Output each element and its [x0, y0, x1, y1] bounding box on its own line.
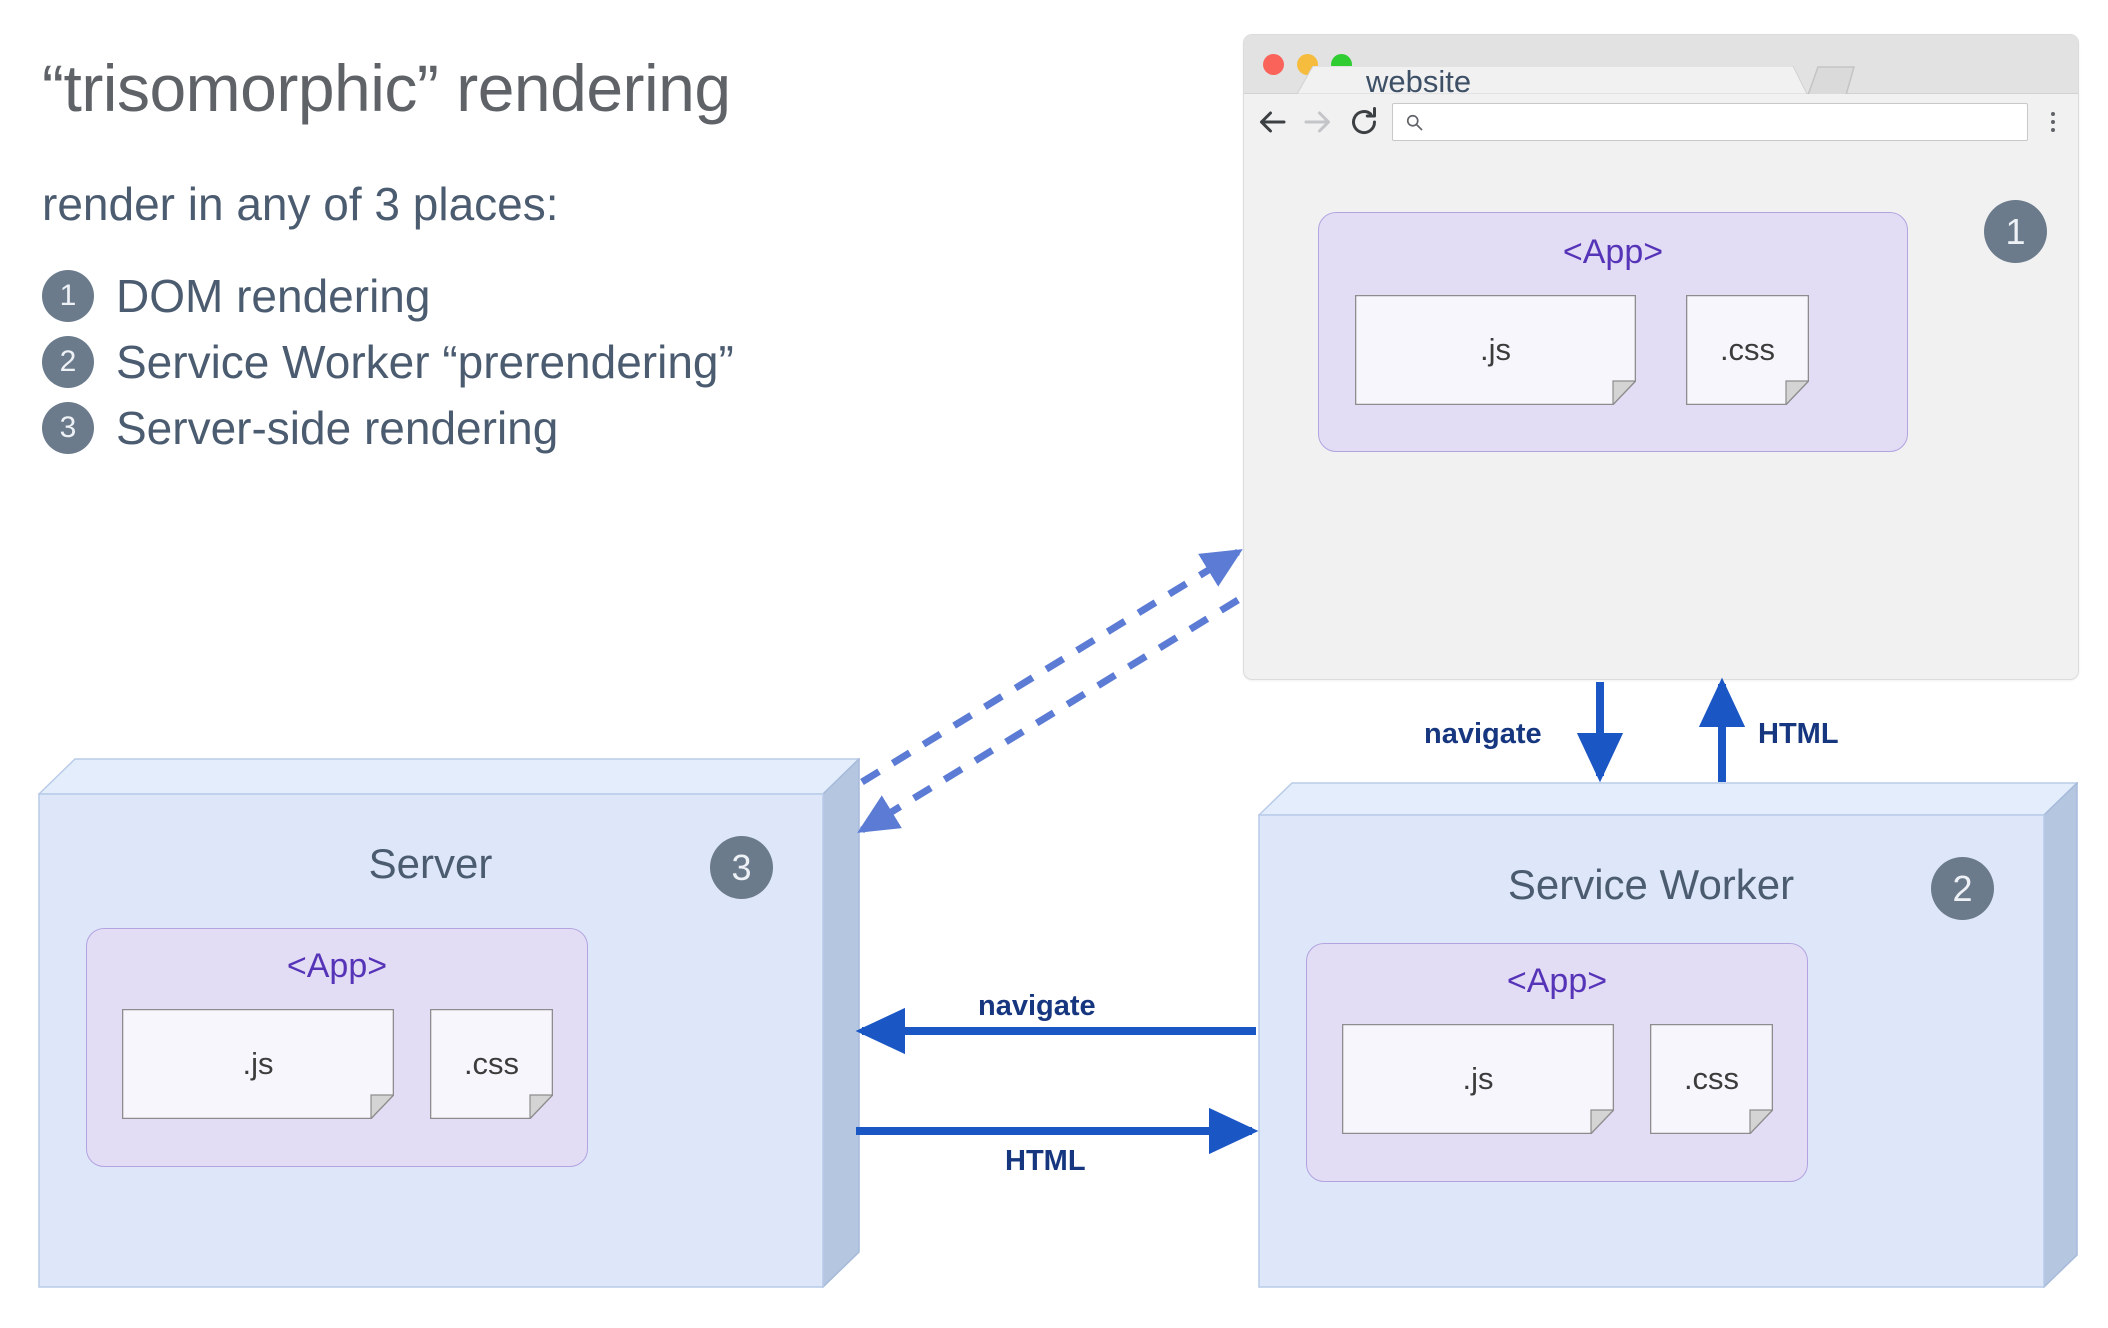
text-column: “trisomorphic” rendering render in any o… [42, 52, 872, 467]
list-item: 1 DOM rendering [42, 269, 872, 323]
close-window-button[interactable] [1263, 54, 1284, 75]
list-item-label-1: DOM rendering [116, 269, 430, 323]
list-item-label-2: Service Worker “prerendering” [116, 335, 734, 389]
app-container-server: <App> .js .css [86, 928, 588, 1167]
browser-viewport: 1 <App> .js .c [1244, 150, 2078, 679]
file-js-service-worker: .js [1342, 1024, 1614, 1134]
file-label-js-server: .js [122, 1046, 394, 1082]
arrow-label-navigate-sw-server: navigate [978, 990, 1096, 1023]
browser-titlebar: website [1244, 35, 2078, 94]
arrow-browser-to-server-dashed [862, 600, 1238, 830]
forward-arrow-icon[interactable] [1300, 104, 1336, 140]
back-arrow-icon[interactable] [1254, 104, 1290, 140]
file-label-css-server: .css [430, 1046, 553, 1082]
list-item: 2 Service Worker “prerendering” [42, 335, 872, 389]
list-badge-1: 1 [42, 270, 94, 322]
arrow-label-navigate-browser-sw: navigate [1424, 718, 1542, 751]
app-label-server: <App> [87, 947, 587, 986]
arrow-label-html-server-sw: HTML [1005, 1145, 1086, 1178]
reload-icon[interactable] [1346, 104, 1382, 140]
status-badge-service-worker: 2 [1931, 857, 1994, 920]
list-item: 3 Server-side rendering [42, 401, 872, 455]
list-badge-3: 3 [42, 402, 94, 454]
file-css-service-worker: .css [1650, 1024, 1773, 1134]
browser-toolbar [1244, 94, 2078, 150]
app-container-browser: <App> .js .css [1318, 212, 1908, 452]
server-box: Server 3 <App> .js .css [38, 758, 860, 1288]
file-label-js-service-worker: .js [1342, 1061, 1614, 1097]
arrow-label-html-sw-browser: HTML [1758, 718, 1839, 751]
service-worker-box: Service Worker 2 <App> .js .css [1258, 782, 2078, 1288]
arrow-server-to-browser-dashed [862, 552, 1238, 782]
places-list: 1 DOM rendering 2 Service Worker “preren… [42, 269, 872, 455]
list-badge-2: 2 [42, 336, 94, 388]
app-label-service-worker: <App> [1307, 962, 1807, 1001]
file-label-js-browser: .js [1355, 332, 1636, 368]
new-tab-icon[interactable] [1804, 65, 1858, 95]
app-container-service-worker: <App> .js .css [1306, 943, 1808, 1182]
address-bar[interactable] [1392, 103, 2028, 141]
file-js-browser: .js [1355, 295, 1636, 405]
page-title: “trisomorphic” rendering [42, 52, 872, 125]
search-icon [1404, 112, 1424, 132]
more-vertical-icon[interactable] [2036, 104, 2070, 140]
service-worker-title: Service Worker [1258, 861, 2044, 909]
browser-tab-label: website [1366, 68, 1471, 96]
list-item-label-3: Server-side rendering [116, 401, 558, 455]
file-css-browser: .css [1686, 295, 1809, 405]
file-js-server: .js [122, 1009, 394, 1119]
app-label-browser: <App> [1319, 233, 1907, 272]
status-badge-browser: 1 [1984, 200, 2047, 263]
subtitle: render in any of 3 places: [42, 177, 872, 231]
diagram-canvas: “trisomorphic” rendering render in any o… [0, 0, 2108, 1328]
status-badge-server: 3 [710, 836, 773, 899]
file-label-css-browser: .css [1686, 332, 1809, 368]
file-label-css-service-worker: .css [1650, 1061, 1773, 1097]
file-css-server: .css [430, 1009, 553, 1119]
browser-window: website [1243, 34, 2079, 680]
server-title: Server [38, 840, 823, 888]
